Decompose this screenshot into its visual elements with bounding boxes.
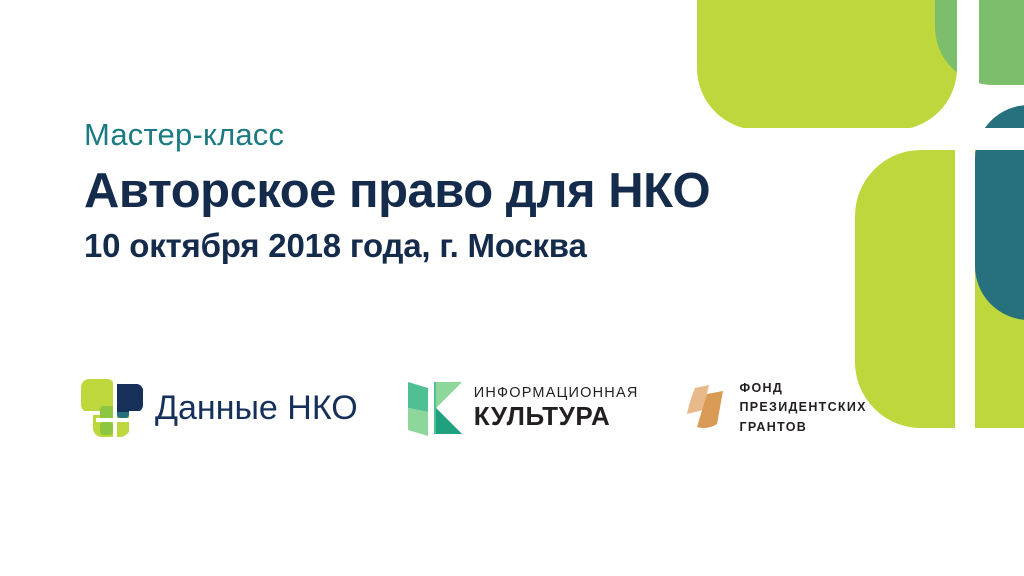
mark-gutter-v3: [113, 378, 117, 414]
decor-tile-green-top: [935, 0, 1024, 85]
decor-tile-lime-bottom: [855, 150, 1024, 428]
sponsor-logo-row: Данные НКО ИНФОРМАЦИОННАЯ КУЛЬ: [80, 378, 867, 438]
infokultura-line-1: ИНФОРМАЦИОННАЯ: [474, 385, 639, 402]
logo-infokultura: ИНФОРМАЦИОННАЯ КУЛЬТУРА: [406, 378, 639, 438]
logo-presidential-grants: ФОНД ПРЕЗИДЕНТСКИХ ГРАНТОВ: [683, 379, 867, 437]
k-bar-top: [408, 382, 428, 412]
decor-tile-teal: [975, 105, 1024, 320]
presidential-grants-mark: [683, 380, 731, 436]
presentation-slide: Мастер-класс Авторское право для НКО 10 …: [0, 0, 1024, 576]
k-wedge-b: [436, 408, 462, 434]
mark-tile-green-inner: [100, 406, 114, 420]
decorative-corner-graphic: [0, 0, 1024, 576]
k-wedge-a: [436, 382, 462, 408]
slide-eyebrow: Мастер-класс: [84, 118, 804, 152]
infokultura-line-2: КУЛЬТУРА: [474, 402, 639, 431]
grants-line-1: ФОНД: [740, 379, 867, 398]
k-bar-bottom: [408, 408, 428, 436]
decor-gutter-vertical: [957, 0, 979, 130]
slide-text-block: Мастер-класс Авторское право для НКО 10 …: [84, 118, 804, 264]
mark-tile-green-inner2: [100, 422, 113, 435]
grants-line-3: ГРАНТОВ: [740, 418, 867, 437]
dannye-nko-mark: [80, 378, 144, 438]
k-wedge-c: [434, 382, 436, 434]
decor-tile-lime-top: [697, 0, 957, 130]
slide-subhead: 10 октября 2018 года, г. Москва: [84, 228, 804, 264]
mark-tile-lime-inner: [117, 422, 129, 434]
presidential-grants-wordmark: ФОНД ПРЕЗИДЕНТСКИХ ГРАНТОВ: [740, 379, 867, 437]
infokultura-wordmark: ИНФОРМАЦИОННАЯ КУЛЬТУРА: [474, 385, 639, 430]
mark-gutter-h2: [96, 418, 132, 422]
infokultura-k-mark: [406, 378, 464, 438]
slide-headline: Авторское право для НКО: [84, 166, 804, 217]
logo-dannye-nko: Данные НКО: [80, 378, 358, 438]
decor-gutter-vertical-2: [955, 150, 975, 450]
grants-line-2: ПРЕЗИДЕНТСКИХ: [740, 398, 867, 417]
dannye-nko-wordmark: Данные НКО: [155, 391, 358, 425]
